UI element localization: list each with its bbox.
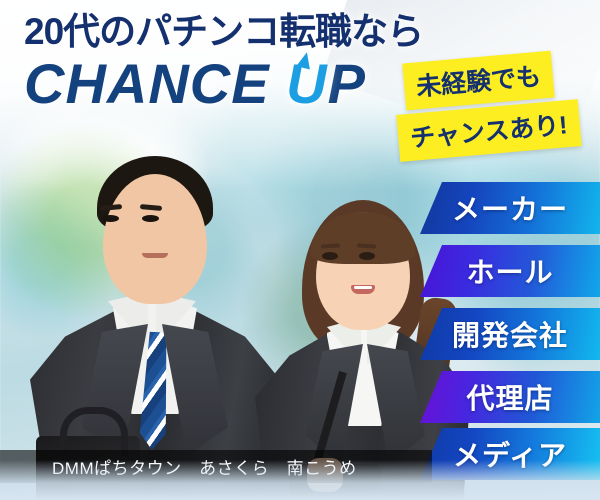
woman-eye-right xyxy=(359,252,375,260)
category-button-hall[interactable]: ホール xyxy=(420,245,600,297)
headline-p-letter: P xyxy=(328,52,366,115)
category-button-maker[interactable]: メーカー xyxy=(420,182,600,234)
man-briefcase-handle xyxy=(60,407,128,456)
category-button-agency[interactable]: 代理店 xyxy=(420,371,600,423)
headline-up-u: U xyxy=(286,55,327,114)
man-mouth xyxy=(142,253,168,258)
category-label-maker: メーカー xyxy=(452,188,568,228)
headline-line-2: CHANCE UP xyxy=(24,55,444,114)
woman-mouth xyxy=(351,285,375,294)
category-label-agency: 代理店 xyxy=(466,377,553,417)
headline-block: 20代のパチンコ転職なら CHANCE UP xyxy=(24,12,444,113)
man-eye-left xyxy=(102,215,119,222)
category-label-hall: ホール xyxy=(466,251,553,291)
headline-chance-text: CHANCE xyxy=(24,52,286,115)
businessman-figure xyxy=(30,150,280,500)
background-bottom-fade xyxy=(0,460,600,500)
category-label-developer: 開発会社 xyxy=(452,314,568,354)
headline-line-1: 20代のパチンコ転職なら xyxy=(24,12,444,53)
woman-eye-left xyxy=(322,252,338,260)
promo-banner: 20代のパチンコ転職なら CHANCE UP 未経験でも チャンスあり! メーカ… xyxy=(0,0,600,500)
man-eye-right xyxy=(142,215,159,222)
category-button-developer[interactable]: 開発会社 xyxy=(420,308,600,360)
